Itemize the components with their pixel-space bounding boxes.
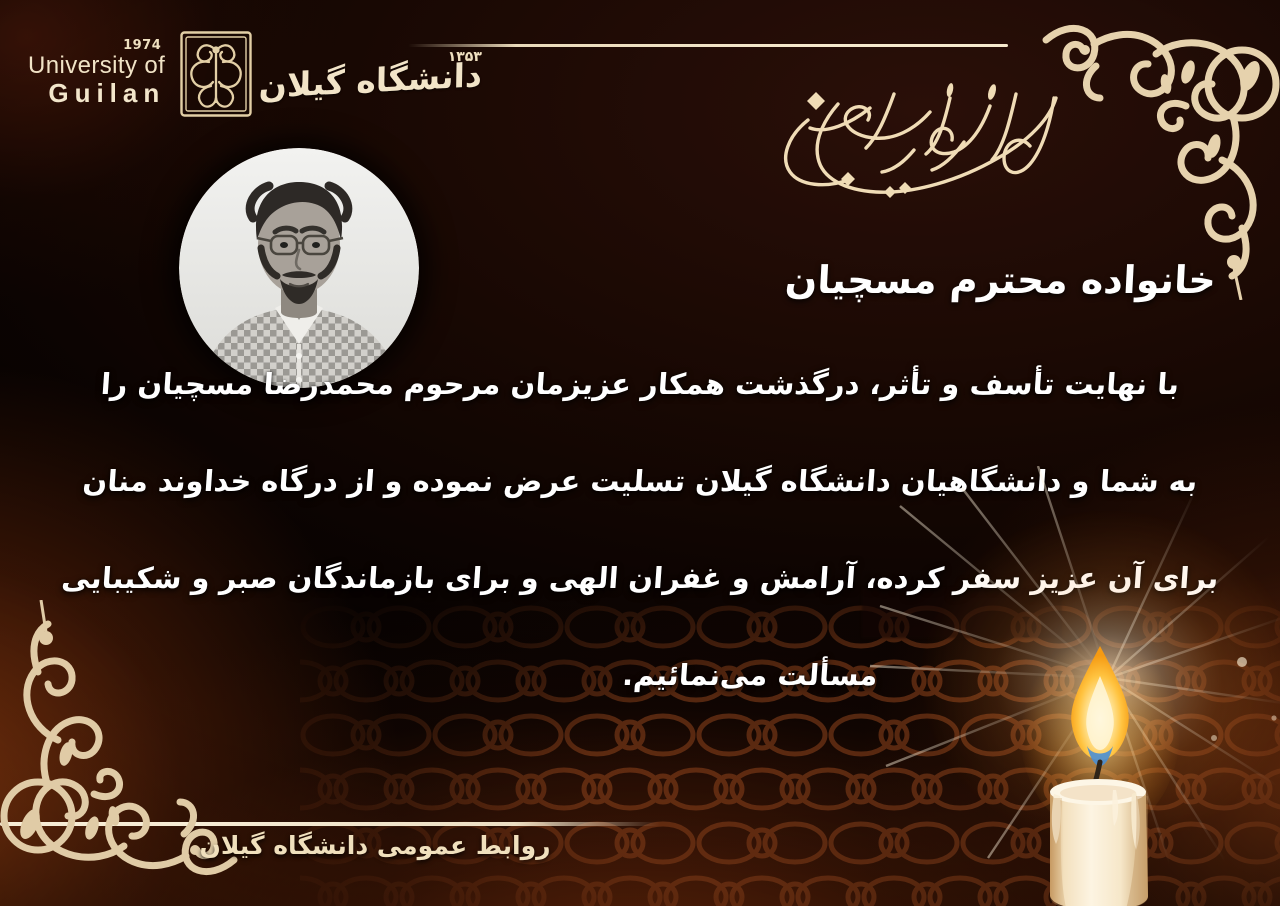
logo-persian-block: ۱۳۵۳ دانشگاه گیلان — [259, 49, 482, 100]
body-line-4-text: مسألت می‌نمائیم. — [621, 661, 878, 690]
logo-english-block: 1974 University of Guilan — [28, 39, 173, 110]
logo-university-word: University of — [28, 53, 165, 80]
condolence-poster: 1974 University of Guilan ۱۳۵۳ دانشگاه گ… — [0, 0, 1280, 906]
top-divider-line — [408, 44, 1008, 47]
footer-public-relations: روابط عمومی دانشگاه گیلان — [199, 831, 550, 860]
logo-guilan-word: Guilan — [48, 79, 165, 109]
deceased-portrait — [179, 148, 419, 388]
butterfly-emblem-icon — [179, 30, 253, 118]
body-line-1: با نهایت تأسف و تأثر، درگذشت همکار عزیزم… — [45, 370, 1235, 399]
addressee-heading: خانواده محترم مسچیان — [784, 258, 1217, 302]
inna-lillahi-calligraphy — [754, 54, 1084, 204]
university-logo: 1974 University of Guilan ۱۳۵۳ دانشگاه گ… — [28, 30, 482, 118]
logo-university-name-fa: دانشگاه گیلان — [259, 55, 483, 106]
footer: روابط عمومی دانشگاه گیلان — [0, 831, 1280, 860]
logo-year-gregorian: 1974 — [123, 39, 161, 52]
